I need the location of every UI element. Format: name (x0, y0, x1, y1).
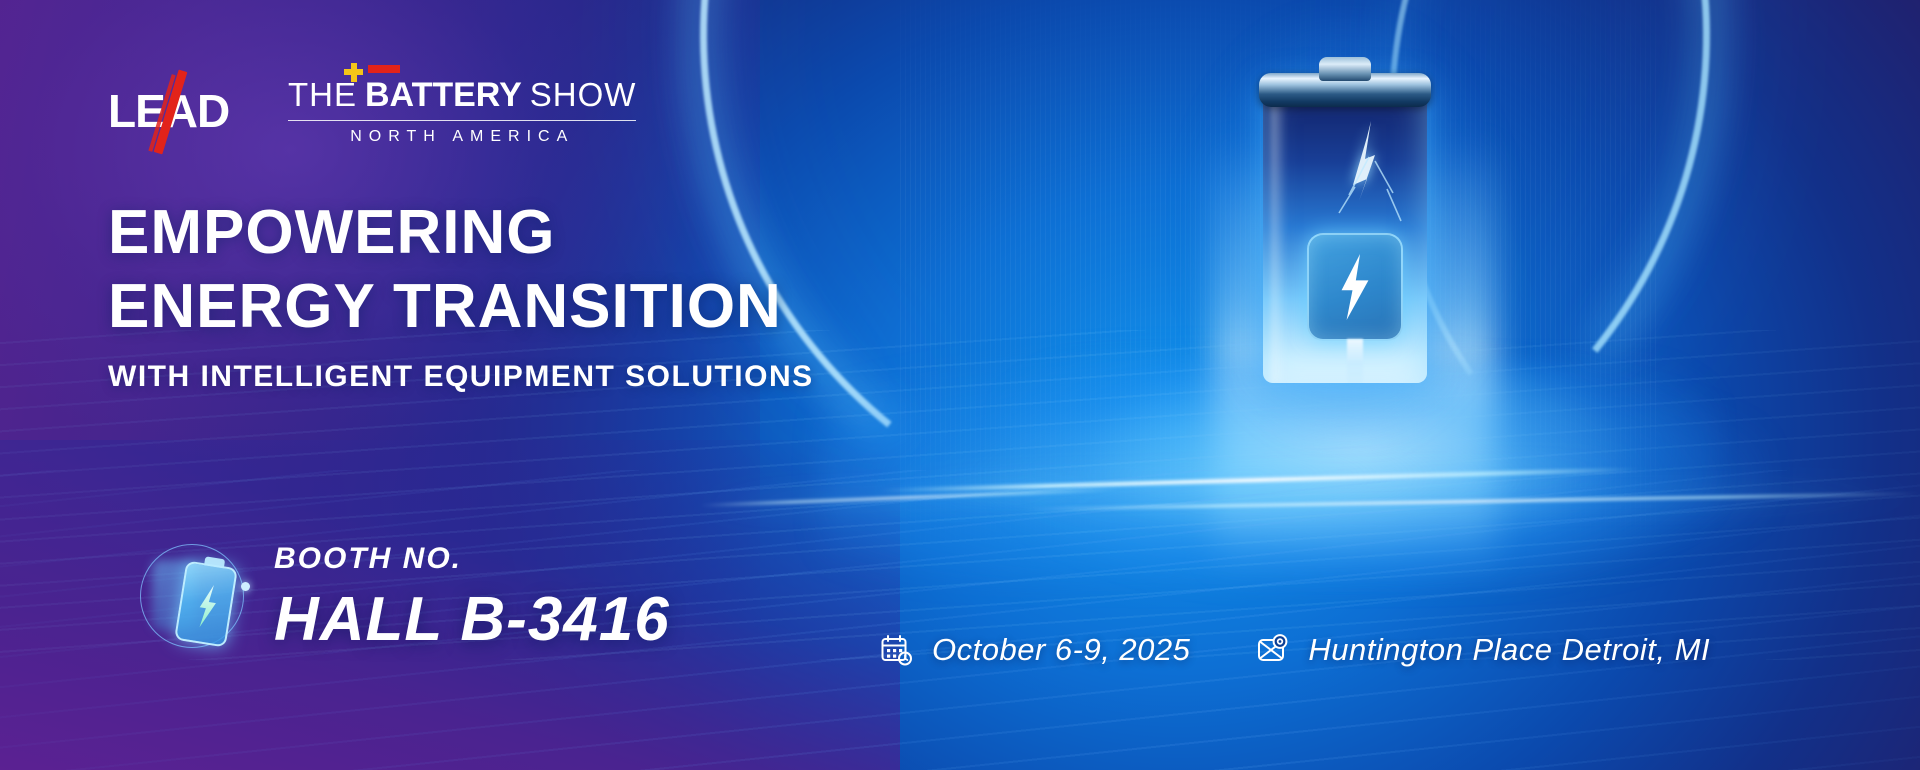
battery-cell-body (1263, 83, 1427, 383)
charge-badge (1307, 233, 1403, 341)
plus-accent-icon (344, 63, 363, 82)
battery-cell-plug (1347, 339, 1363, 383)
event-date: October 6-9, 2025 (932, 632, 1190, 668)
battery-show-show: SHOW (530, 78, 637, 112)
lightning-bolt-icon (1334, 254, 1376, 320)
battery-cell-icon (1255, 55, 1435, 385)
promo-banner: LEAD THE BATTERY SHOW NORTH AMERICA EMPO… (0, 0, 1920, 770)
logo-row: LEAD THE BATTERY SHOW NORTH AMERICA (108, 72, 636, 150)
booth-block: BOOTH NO. HALL B-3416 (140, 538, 670, 658)
red-bar-accent-icon (368, 65, 400, 73)
booth-icon-battery (174, 560, 238, 647)
booth-text: BOOTH NO. HALL B-3416 (274, 542, 670, 655)
headline-block: EMPOWERING ENERGY TRANSITION WITH INTELL… (108, 196, 814, 394)
booth-icon-orbit-dot (241, 582, 250, 591)
event-location: Huntington Place Detroit, MI (1308, 632, 1710, 668)
booth-number: HALL B-3416 (274, 584, 670, 655)
map-pin-icon (1256, 633, 1290, 667)
headline-subtitle: WITH INTELLIGENT EQUIPMENT SOLUTIONS (108, 360, 814, 394)
headline-line-1: EMPOWERING (108, 196, 814, 270)
battery-show-divider (288, 120, 636, 121)
battery-show-the: THE (288, 78, 357, 112)
battery-bolt-icon (140, 538, 248, 658)
event-date-item: October 6-9, 2025 (880, 632, 1190, 668)
battery-show-logo[interactable]: THE BATTERY SHOW NORTH AMERICA (288, 72, 636, 150)
battery-show-wordmark: THE BATTERY SHOW (288, 72, 636, 112)
battery-show-region: NORTH AMERICA (288, 128, 636, 146)
booth-label: BOOTH NO. (274, 542, 670, 576)
booth-icon-bolt (192, 583, 223, 630)
lead-logo[interactable]: LEAD (108, 83, 240, 139)
event-location-item: Huntington Place Detroit, MI (1256, 632, 1710, 668)
booth-icon-battery-tip (204, 556, 225, 568)
battery-show-battery: BATTERY (365, 78, 522, 112)
battery-cell-terminal (1319, 57, 1371, 81)
headline-line-2: ENERGY TRANSITION (108, 270, 814, 344)
calendar-clock-icon (880, 633, 914, 667)
event-meta-row: October 6-9, 2025 Huntington Place Detro… (880, 632, 1710, 668)
